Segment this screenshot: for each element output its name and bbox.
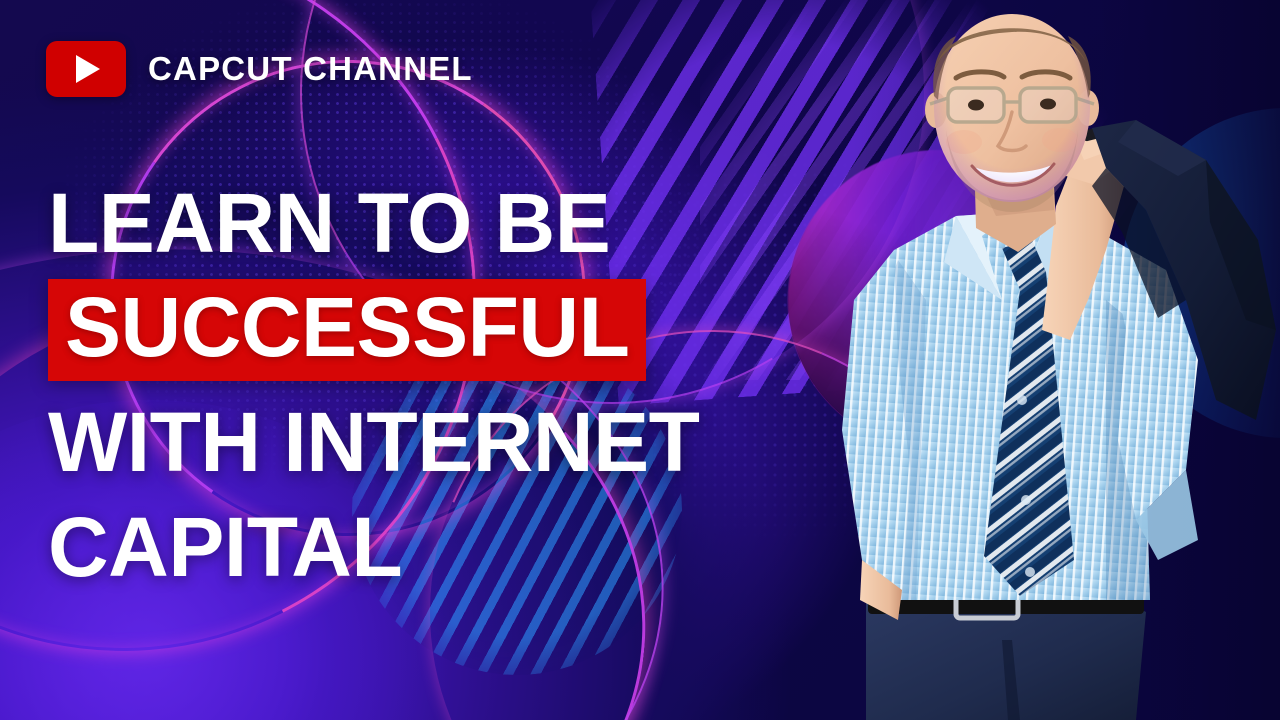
channel-name-label: CAPCUT CHANNEL xyxy=(148,50,473,88)
thumbnail-canvas: CAPCUT CHANNEL LEARN TO BE SUCCESSFUL WI… xyxy=(0,0,1280,720)
headline-highlight-bar: SUCCESSFUL xyxy=(48,279,646,381)
headline-block: LEARN TO BE SUCCESSFUL WITH INTERNET CAP… xyxy=(48,182,908,590)
channel-branding[interactable]: CAPCUT CHANNEL xyxy=(46,41,473,97)
headline-line-4: CAPITAL xyxy=(48,506,908,589)
headline-line-1: LEARN TO BE xyxy=(48,182,908,265)
headline-line-3: WITH INTERNET xyxy=(48,401,908,484)
shirt-button xyxy=(1021,495,1031,505)
shirt-button xyxy=(1025,567,1035,577)
headline-line-2: SUCCESSFUL xyxy=(65,286,629,369)
play-triangle xyxy=(76,55,100,83)
shirt-button xyxy=(1017,395,1027,405)
youtube-play-icon[interactable] xyxy=(46,41,126,97)
